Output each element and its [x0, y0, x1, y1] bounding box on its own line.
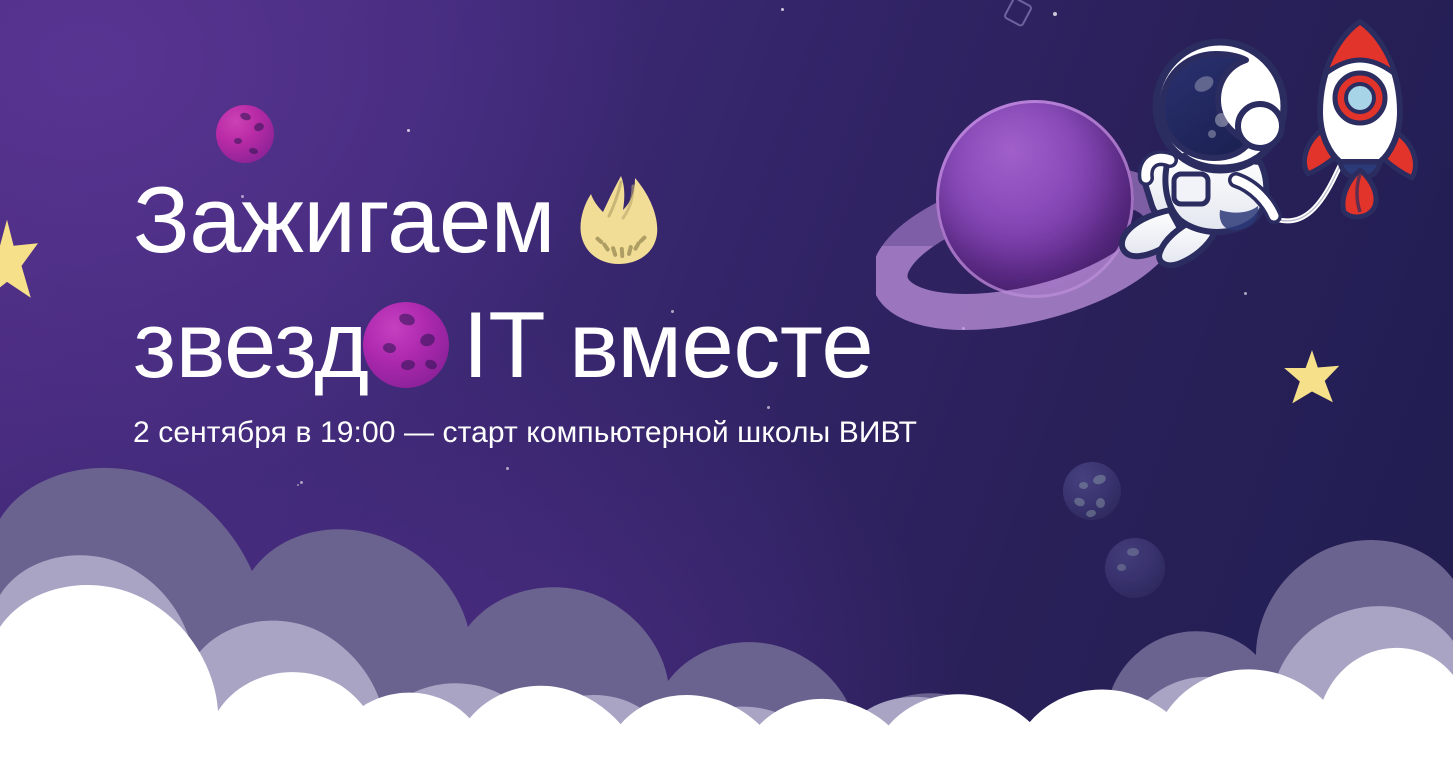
star-dot: [1053, 12, 1057, 16]
star-dot: [297, 484, 299, 486]
pink-planet-icon: [216, 105, 274, 163]
headline-line-2-before: звезд: [133, 297, 369, 394]
headline-block: Зажигаем: [133, 172, 1113, 450]
headline-line-1-text: Зажигаем: [133, 172, 555, 269]
yellow-star-icon: [1283, 349, 1341, 405]
headline-line-1: Зажигаем: [133, 172, 1113, 269]
yellow-star-icon: [0, 218, 40, 302]
promo-banner: Зажигаем: [0, 0, 1453, 759]
dark-planet-icon: [1105, 538, 1165, 598]
star-dot: [407, 129, 410, 132]
rocket-balloon-icon: [1304, 22, 1415, 217]
event-subtitle: 2 сентября в 19:00 — старт компьютерной …: [133, 416, 1113, 450]
dark-planet-icon: [1063, 462, 1121, 520]
diamond-star-icon: [1003, 0, 1034, 28]
astronaut-icon: [1122, 42, 1284, 265]
headline-line-2: звезд IT вместе: [133, 297, 1113, 394]
cloud-layer-back: [0, 468, 1453, 759]
star-dot: [781, 8, 784, 11]
flame-icon: [577, 172, 661, 268]
star-dot: [506, 467, 509, 470]
star-dot: [300, 481, 303, 484]
astronaut-illustration: [1108, 14, 1453, 294]
moon-icon: [363, 302, 449, 388]
cloud-layer-mid: [0, 555, 1453, 759]
headline-line-2-after: IT вместе: [463, 297, 874, 394]
cloud-bank: [0, 459, 1453, 759]
cloud-layer-front: [0, 585, 1453, 759]
